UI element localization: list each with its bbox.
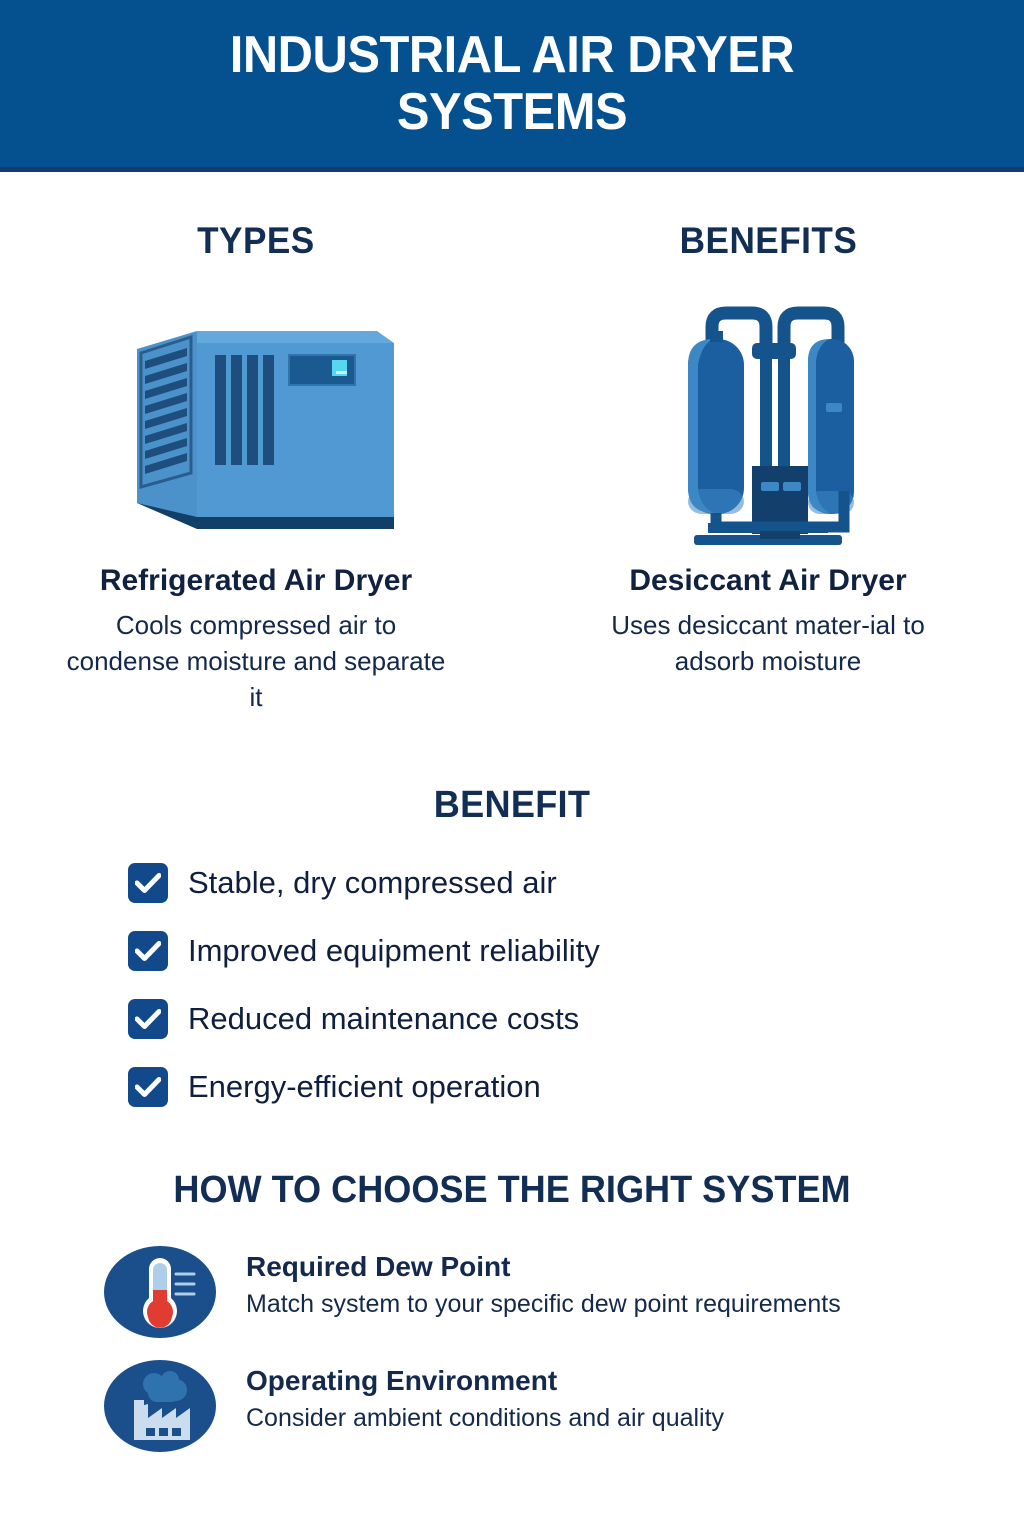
list-item: Required Dew Point Match system to your … [104,1246,1024,1338]
choose-item-title: Operating Environment [246,1366,724,1397]
benefit-item-label: Stable, dry compressed air [188,867,557,898]
checkbox-checked-icon[interactable] [128,1067,168,1107]
column-benefits: BENEFITS [512,220,1024,716]
dryer-types-row: TYPES [0,172,1024,716]
list-item: Improved equipment reliability [128,931,1024,971]
column-types: TYPES [0,220,512,716]
how-to-choose-list: Required Dew Point Match system to your … [0,1246,1024,1452]
column-heading-types: TYPES [197,220,315,262]
list-item: Reduced maintenance costs [128,999,1024,1039]
desiccant-air-dryer-illustration [668,296,868,546]
choose-item-description: Match system to your specific dew point … [246,1290,841,1319]
type-description-desiccant: Uses desiccant mater-ial to adsorb moist… [573,608,963,680]
choose-item-body: Required Dew Point Match system to your … [246,1246,841,1320]
thermometer-icon [104,1246,216,1338]
type-title-refrigerated: Refrigerated Air Dryer [100,564,412,598]
checkbox-checked-icon[interactable] [128,931,168,971]
checkbox-checked-icon[interactable] [128,863,168,903]
list-item: Operating Environment Consider ambient c… [104,1360,1024,1452]
how-to-choose-heading: HOW TO CHOOSE THE RIGHT SYSTEM [26,1169,999,1212]
factory-icon [104,1360,216,1452]
type-title-desiccant: Desiccant Air Dryer [629,564,906,598]
page-header: INDUSTRIAL AIR DRYER SYSTEMS [0,0,1024,172]
benefit-section-heading: BENEFIT [26,784,999,827]
benefit-item-label: Improved equipment reliability [188,935,600,966]
choose-item-title: Required Dew Point [246,1252,841,1283]
page-title: INDUSTRIAL AIR DRYER SYSTEMS [117,27,907,139]
refrigerated-air-dryer-illustration [119,296,394,546]
choose-item-description: Consider ambient conditions and air qual… [246,1404,724,1433]
column-heading-benefits: BENEFITS [679,220,857,262]
type-description-refrigerated: Cools compressed air to condense moistur… [61,608,451,716]
checkbox-checked-icon[interactable] [128,999,168,1039]
benefit-list: Stable, dry compressed air Improved equi… [0,863,1024,1107]
list-item: Stable, dry compressed air [128,863,1024,903]
benefit-section: BENEFIT Stable, dry compressed air Impro… [0,784,1024,1107]
choose-item-body: Operating Environment Consider ambient c… [246,1360,724,1434]
benefit-item-label: Reduced maintenance costs [188,1003,579,1034]
how-to-choose-section: HOW TO CHOOSE THE RIGHT SYSTEM [0,1169,1024,1452]
benefit-item-label: Energy-efficient operation [188,1071,541,1102]
list-item: Energy-efficient operation [128,1067,1024,1107]
